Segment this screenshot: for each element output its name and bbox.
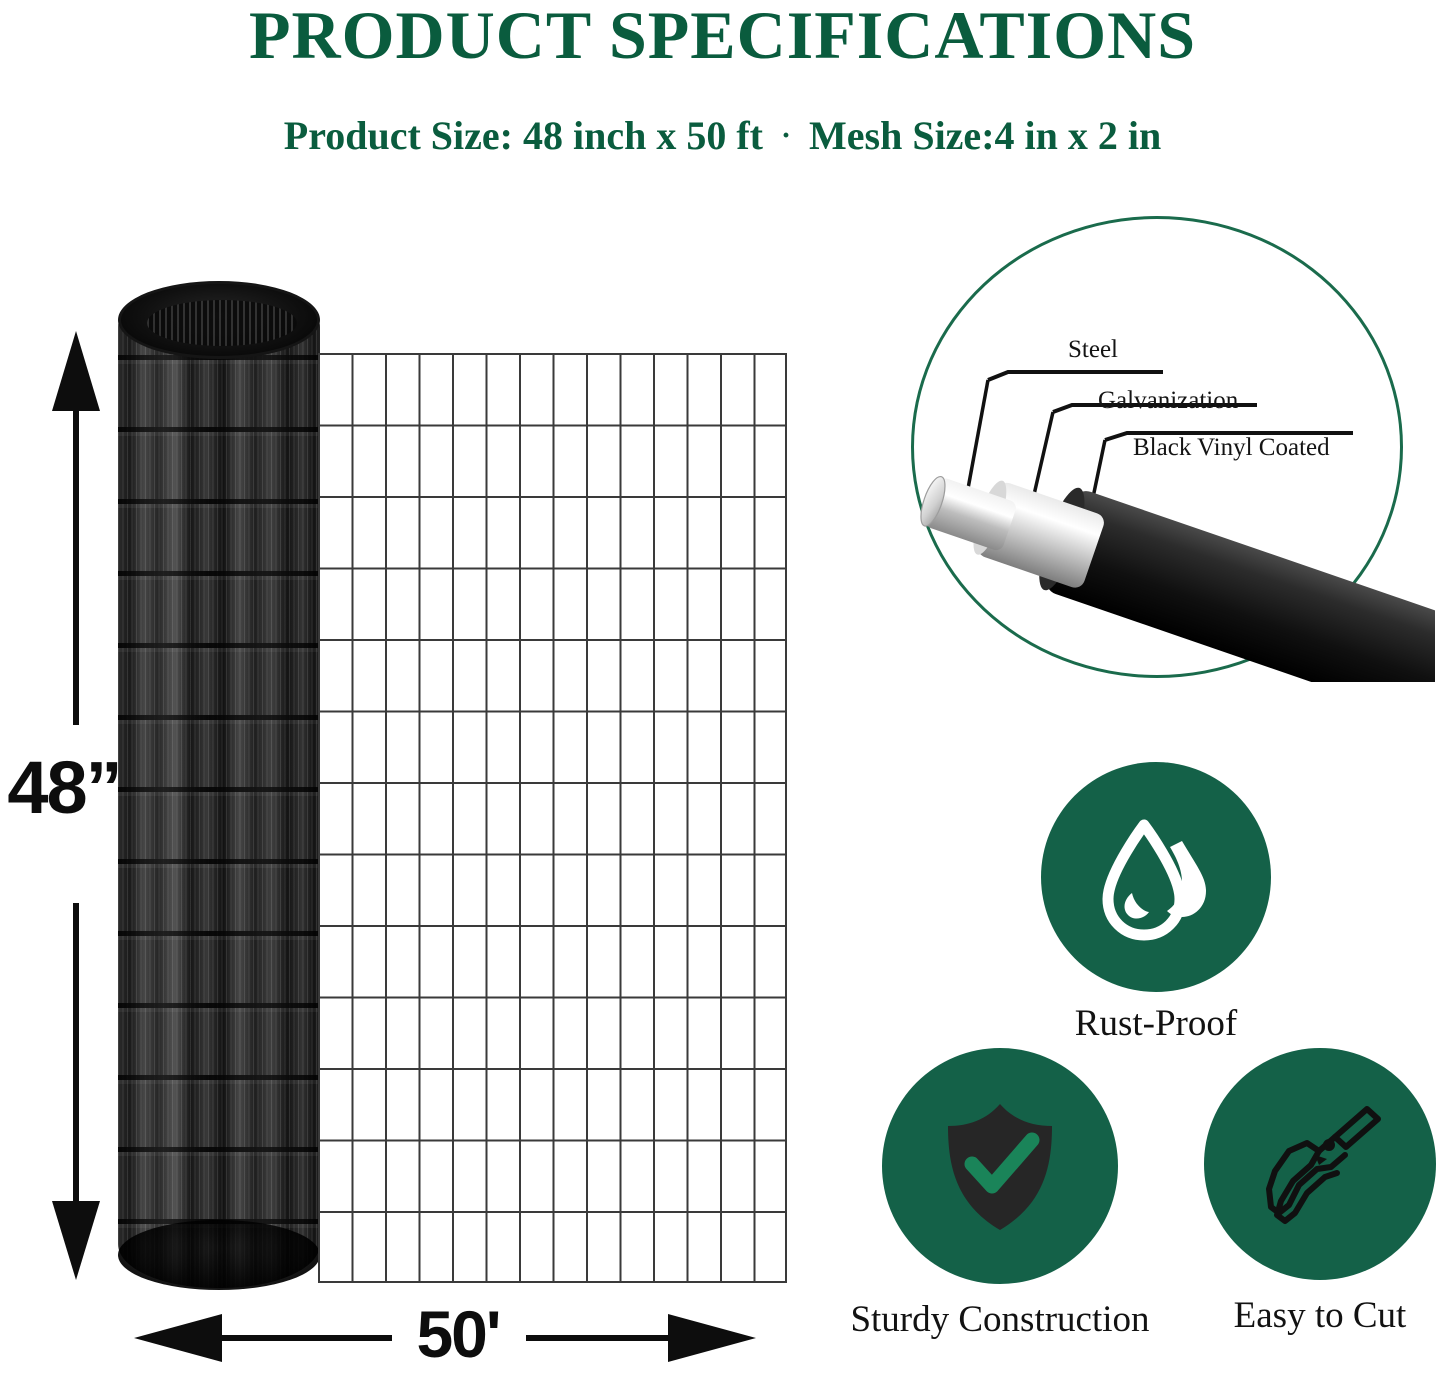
sturdy-construction-badge [882,1048,1118,1284]
page-title: PRODUCT SPECIFICATIONS [0,0,1445,75]
water-drop-icon [1086,807,1226,947]
feature-sturdy-construction: Sturdy Construction [840,1048,1160,1341]
spec-separator: · [763,119,809,153]
wire-mesh-sheet [318,353,787,1283]
roll-horizontal-wires [118,283,320,1288]
roll-top-ellipse [118,281,320,359]
width-dimension-label: 50' [398,1296,518,1372]
feature-rust-proof: Rust-Proof [1006,762,1306,1045]
cross-section-label-black-vinyl-coated: Black Vinyl Coated [1133,434,1330,462]
product-size-text: Product Size: 48 inch x 50 ft [284,113,763,158]
rust-proof-label: Rust-Proof [1006,1002,1306,1045]
height-dimension-label: 48” [0,745,128,830]
wire-roll-image [118,283,320,1288]
shield-check-icon [928,1094,1072,1238]
sturdy-construction-label: Sturdy Construction [840,1298,1160,1341]
infographic-canvas: PRODUCT SPECIFICATIONS Product Size: 48 … [0,0,1445,1380]
rust-proof-badge [1041,762,1271,992]
mesh-bottom-edge [318,1281,787,1283]
roll-top-inner-coils [147,300,297,346]
cross-section-label-galvanization: Galvanization [1098,387,1238,415]
mesh-size-text: Mesh Size:4 in x 2 in [809,113,1161,158]
pliers-icon [1245,1089,1395,1239]
roll-bottom-edge [118,1220,320,1290]
easy-to-cut-badge [1204,1048,1436,1280]
easy-to-cut-label: Easy to Cut [1196,1294,1444,1337]
spec-summary-row: Product Size: 48 inch x 50 ft·Mesh Size:… [0,112,1445,159]
feature-easy-to-cut: Easy to Cut [1196,1048,1444,1337]
cross-section-label-steel: Steel [1068,336,1118,364]
wire-cross-section-callout: Steel Galvanization Black Vinyl Coated [905,212,1435,682]
